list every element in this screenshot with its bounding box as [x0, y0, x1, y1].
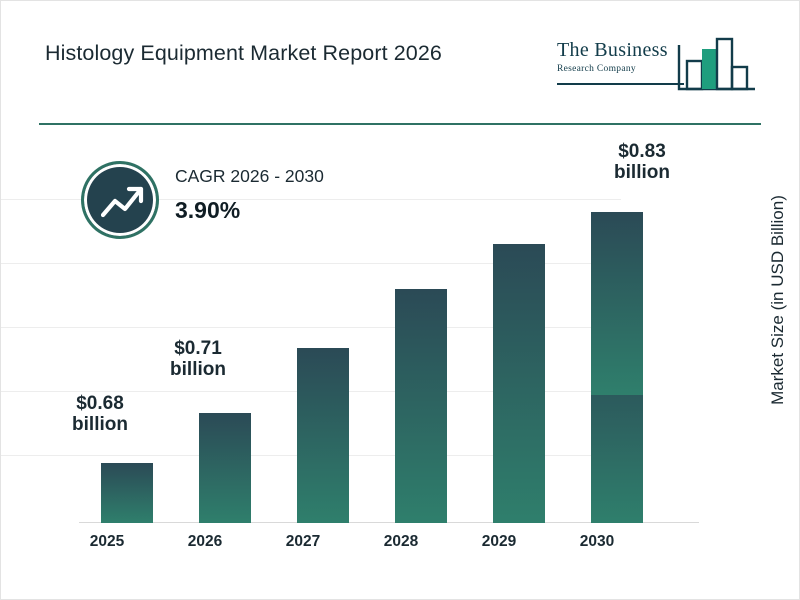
bar-2025[interactable]	[101, 463, 153, 523]
bar-2030-cap	[591, 212, 643, 395]
logo-line-1: The Business	[557, 39, 687, 62]
page-title: Histology Equipment Market Report 2026	[45, 41, 442, 66]
x-tick-2025: 2025	[62, 533, 152, 551]
company-logo: The Business Research Company	[557, 31, 757, 101]
bar-chart-logo-mark	[677, 31, 757, 98]
data-label-2030-value: $0.83	[602, 141, 682, 162]
bar-2026[interactable]	[199, 413, 251, 523]
x-tick-2030: 2030	[552, 533, 642, 551]
x-tick-2028: 2028	[356, 533, 446, 551]
data-label-2026: $0.71 billion	[158, 338, 238, 381]
logo-underline	[557, 83, 684, 85]
data-label-2025: $0.68 billion	[60, 393, 140, 436]
data-label-2026-unit: billion	[158, 359, 238, 380]
bar-2029[interactable]	[493, 244, 545, 523]
cagr-callout: CAGR 2026 - 2030 3.90%	[81, 156, 401, 246]
cagr-text: CAGR 2026 - 2030 3.90%	[175, 166, 324, 224]
logo-line-2: Research Company	[557, 64, 687, 74]
bar-2027[interactable]	[297, 348, 349, 523]
data-label-2030-unit: billion	[602, 162, 682, 183]
x-tick-2029: 2029	[454, 533, 544, 551]
chart-canvas: Histology Equipment Market Report 2026 T…	[0, 0, 800, 600]
cagr-badge	[81, 161, 159, 239]
logo-text: The Business Research Company	[557, 39, 687, 74]
x-tick-2027: 2027	[258, 533, 348, 551]
data-label-2026-value: $0.71	[158, 338, 238, 359]
cagr-value: 3.90%	[175, 197, 324, 224]
bar-2028[interactable]	[395, 289, 447, 523]
y-axis-title-text: Market Size (in USD Billion)	[768, 195, 788, 405]
data-label-2025-unit: billion	[60, 414, 140, 435]
trend-up-icon	[101, 183, 145, 223]
data-label-2030: $0.83 billion	[602, 141, 682, 184]
cagr-label: CAGR 2026 - 2030	[175, 166, 324, 187]
y-axis-title: Market Size (in USD Billion)	[763, 140, 793, 460]
data-label-2025-value: $0.68	[60, 393, 140, 414]
header-divider	[39, 123, 761, 125]
x-tick-2026: 2026	[160, 533, 250, 551]
